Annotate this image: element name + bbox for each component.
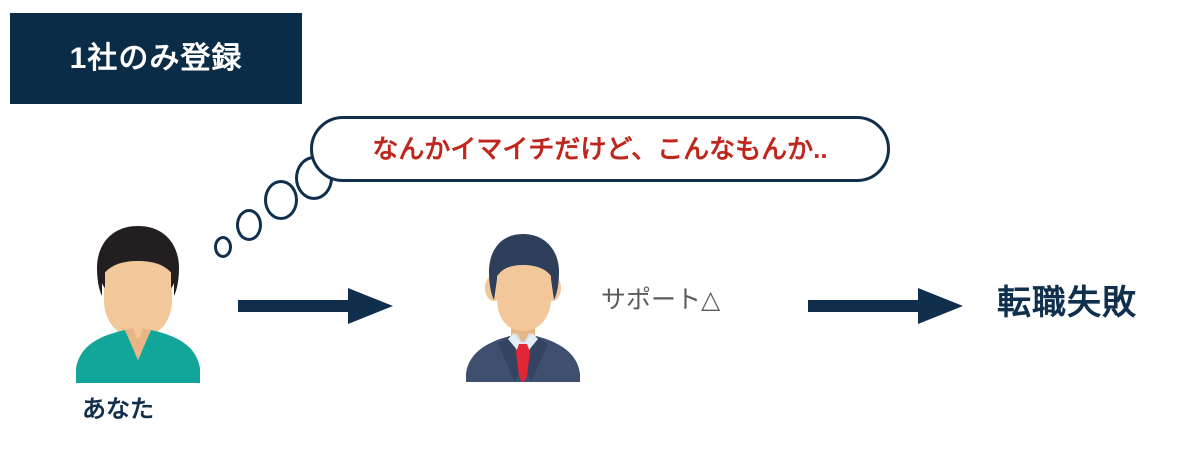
user-avatar-icon: [68, 218, 208, 383]
speech-bubble-text: なんかイマイチだけど、こんなもんか..: [372, 136, 827, 162]
arrow-right-icon: [238, 288, 393, 324]
diagram-canvas: 1社のみ登録 なんかイマイチだけど、こんなもんか.. あな: [0, 0, 1184, 466]
thought-dot-icon: [236, 209, 262, 241]
header-banner-label: 1社のみ登録: [70, 44, 243, 74]
businessman-avatar-icon: [458, 232, 588, 382]
thought-dot-icon: [214, 236, 232, 258]
header-banner: 1社のみ登録: [10, 13, 302, 104]
outcome-label: 転職失敗: [997, 286, 1137, 320]
speech-bubble: なんかイマイチだけど、こんなもんか..: [310, 116, 890, 182]
support-rating-label: サポート△: [601, 288, 720, 313]
thought-dot-icon: [264, 180, 298, 220]
arrow-right-icon: [808, 288, 963, 324]
user-label: あなた: [82, 398, 154, 422]
